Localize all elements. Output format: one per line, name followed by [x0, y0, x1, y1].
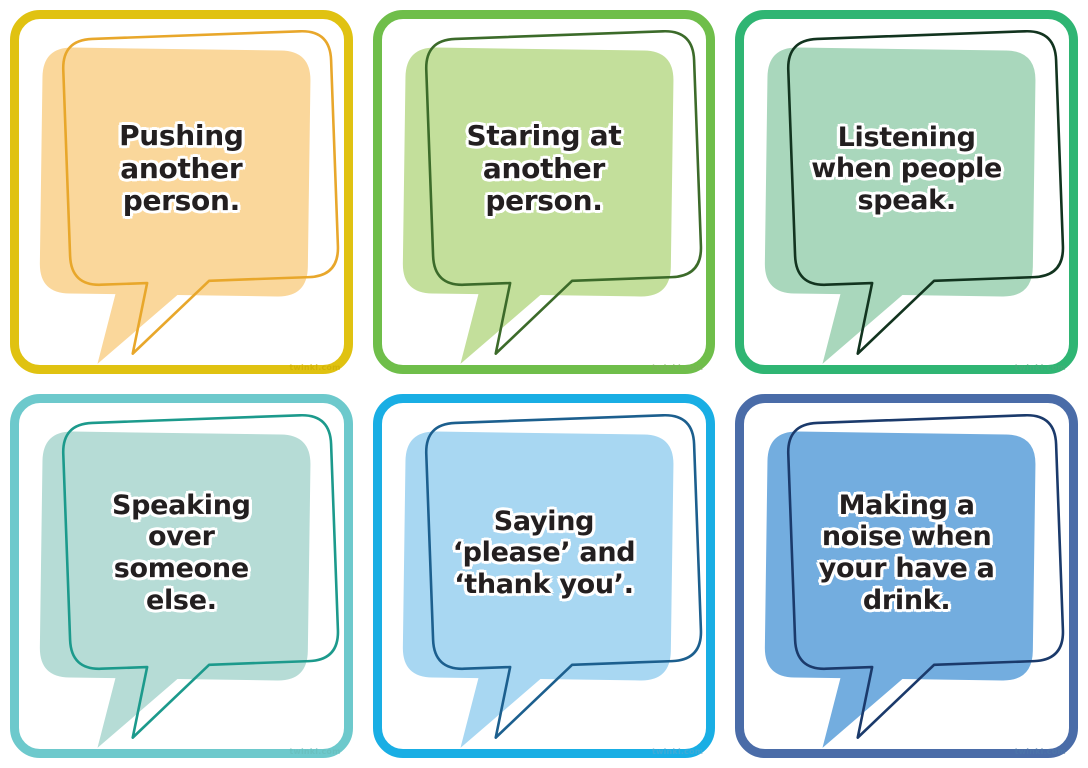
- speech-bubble: [382, 403, 707, 749]
- speech-bubble: [744, 403, 1069, 749]
- behaviour-card[interactable]: Staring atanotherperson.twinkl.com: [363, 0, 726, 384]
- twinkl-watermark: twinkl.com: [652, 363, 703, 372]
- twinkl-watermark: twinkl.com: [652, 747, 703, 756]
- card-clip-area: Speakingoversomeoneelse.: [19, 403, 344, 749]
- card-clip-area: Making anoise whenyour have adrink.: [744, 403, 1069, 749]
- card-clip-area: Staring atanotherperson.: [382, 19, 707, 365]
- speech-bubble: [382, 19, 707, 365]
- card-clip-area: Listeningwhen peoplespeak.: [744, 19, 1069, 365]
- speech-bubble: [19, 19, 344, 365]
- speech-bubble: [744, 19, 1069, 365]
- speech-bubble: [19, 403, 344, 749]
- twinkl-watermark: twinkl.com: [1015, 363, 1066, 372]
- speech-bubble-fill: [401, 47, 673, 365]
- speech-bubble-fill: [38, 47, 310, 365]
- twinkl-watermark: twinkl.com: [1015, 747, 1066, 756]
- speech-bubble-fill: [764, 47, 1036, 365]
- behaviour-card[interactable]: Pushinganotherperson.twinkl.com: [0, 0, 363, 384]
- speech-bubble-fill: [764, 431, 1036, 749]
- speech-bubble-fill: [38, 431, 310, 749]
- behaviour-card[interactable]: Saying‘please’ and‘thank you’.twinkl.com: [363, 384, 726, 768]
- card-grid: Pushinganotherperson.twinkl.comStaring a…: [0, 0, 1088, 768]
- speech-bubble-fill: [401, 431, 673, 749]
- behaviour-card[interactable]: Listeningwhen peoplespeak.twinkl.com: [725, 0, 1088, 384]
- behaviour-card[interactable]: Making anoise whenyour have adrink.twink…: [725, 384, 1088, 768]
- card-clip-area: Saying‘please’ and‘thank you’.: [382, 403, 707, 749]
- behaviour-card[interactable]: Speakingoversomeoneelse.twinkl.com: [0, 384, 363, 768]
- twinkl-watermark: twinkl.com: [289, 363, 340, 372]
- card-clip-area: Pushinganotherperson.: [19, 19, 344, 365]
- twinkl-watermark: twinkl.com: [289, 747, 340, 756]
